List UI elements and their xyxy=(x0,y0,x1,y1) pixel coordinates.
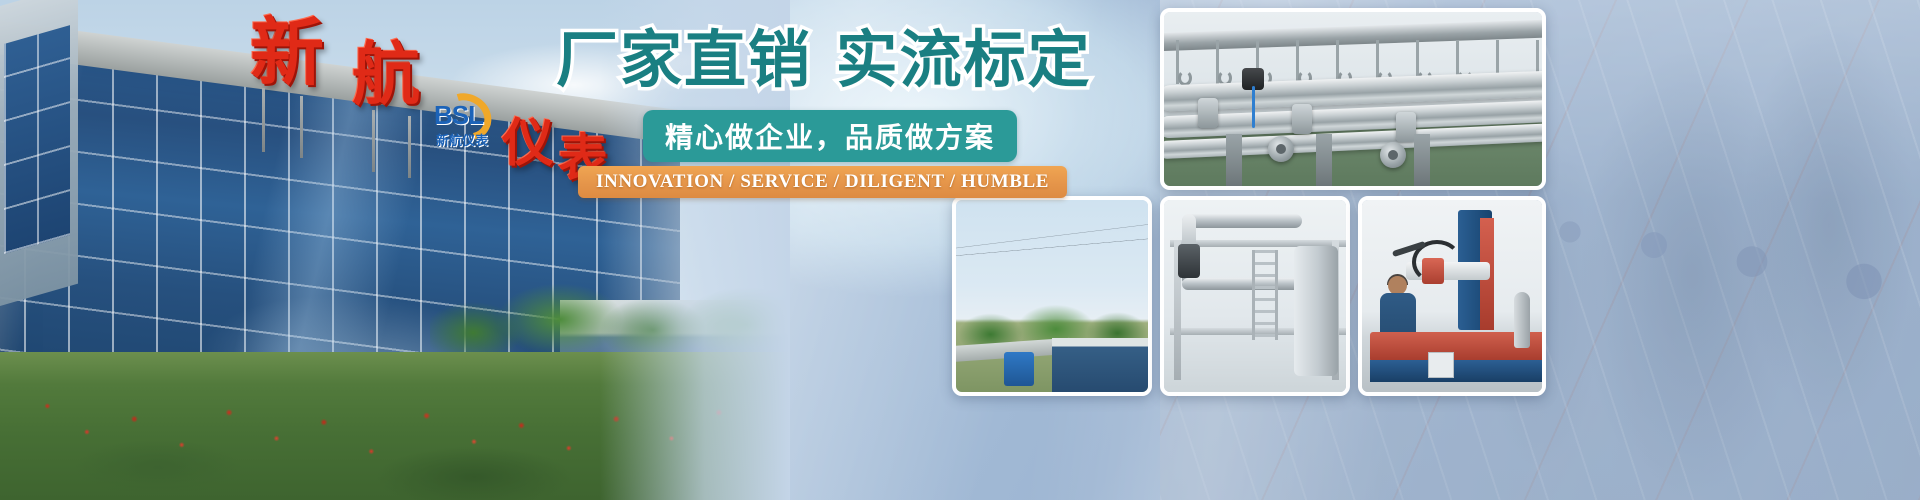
banner-slogan-bar: INNOVATION / SERVICE / DILIGENT / HUMBLE xyxy=(578,166,1067,198)
rig-signal-cable xyxy=(1252,86,1255,128)
yard-power-lines xyxy=(956,222,1148,272)
banner-subtitle-pill: 精心做企业，品质做方案 xyxy=(643,110,1017,162)
bsl-logo: BSL 新航仪表 xyxy=(432,92,496,154)
photo-outdoor-pipework-yard xyxy=(952,196,1152,396)
sign-char-1: 新 xyxy=(250,16,324,90)
rig-handwheel xyxy=(1268,136,1294,162)
skid-ladder xyxy=(1252,250,1278,340)
rig-support-stand xyxy=(1316,134,1332,186)
skid-pipe-top xyxy=(1182,214,1302,228)
sign-post xyxy=(408,116,411,178)
sign-char-3: 仪 xyxy=(502,118,554,170)
banner-headline: 厂家直销 实流标定 xyxy=(556,29,1092,91)
logo-mark-text: BSL xyxy=(434,100,483,131)
sign-post xyxy=(300,96,303,158)
weld-machine-base-blue xyxy=(1370,360,1546,382)
sign-post xyxy=(262,88,265,152)
rig-support-stand xyxy=(1414,134,1430,186)
weld-gas-cylinder xyxy=(1514,292,1530,348)
banner-subtitle-text: 精心做企业，品质做方案 xyxy=(665,116,995,156)
yard-blue-barrel xyxy=(1004,352,1034,386)
rig-support-stand xyxy=(1226,134,1242,186)
logo-chinese-text: 新航仪表 xyxy=(436,130,488,149)
rig-handwheel xyxy=(1380,142,1406,168)
sign-char-2: 航 xyxy=(352,42,420,110)
promotional-banner: 新 航 仪 表 BSL 新航仪表 xyxy=(0,0,1920,500)
photo-indoor-pipe-skid xyxy=(1160,196,1350,396)
rig-flange xyxy=(1198,98,1218,128)
rig-flange xyxy=(1292,104,1312,134)
sign-post xyxy=(372,110,375,172)
rig-flange xyxy=(1396,112,1416,142)
weld-control-box xyxy=(1428,352,1454,378)
photo-flow-calibration-rig xyxy=(1160,8,1546,190)
yard-glass-building xyxy=(1052,338,1152,396)
skid-vessel xyxy=(1294,246,1338,376)
skid-valve-actuator xyxy=(1178,244,1200,278)
banner-slogan-text: INNOVATION / SERVICE / DILIGENT / HUMBLE xyxy=(596,171,1049,193)
building-end-wall-glass xyxy=(4,25,70,254)
photo-welding-robot xyxy=(1358,196,1546,396)
